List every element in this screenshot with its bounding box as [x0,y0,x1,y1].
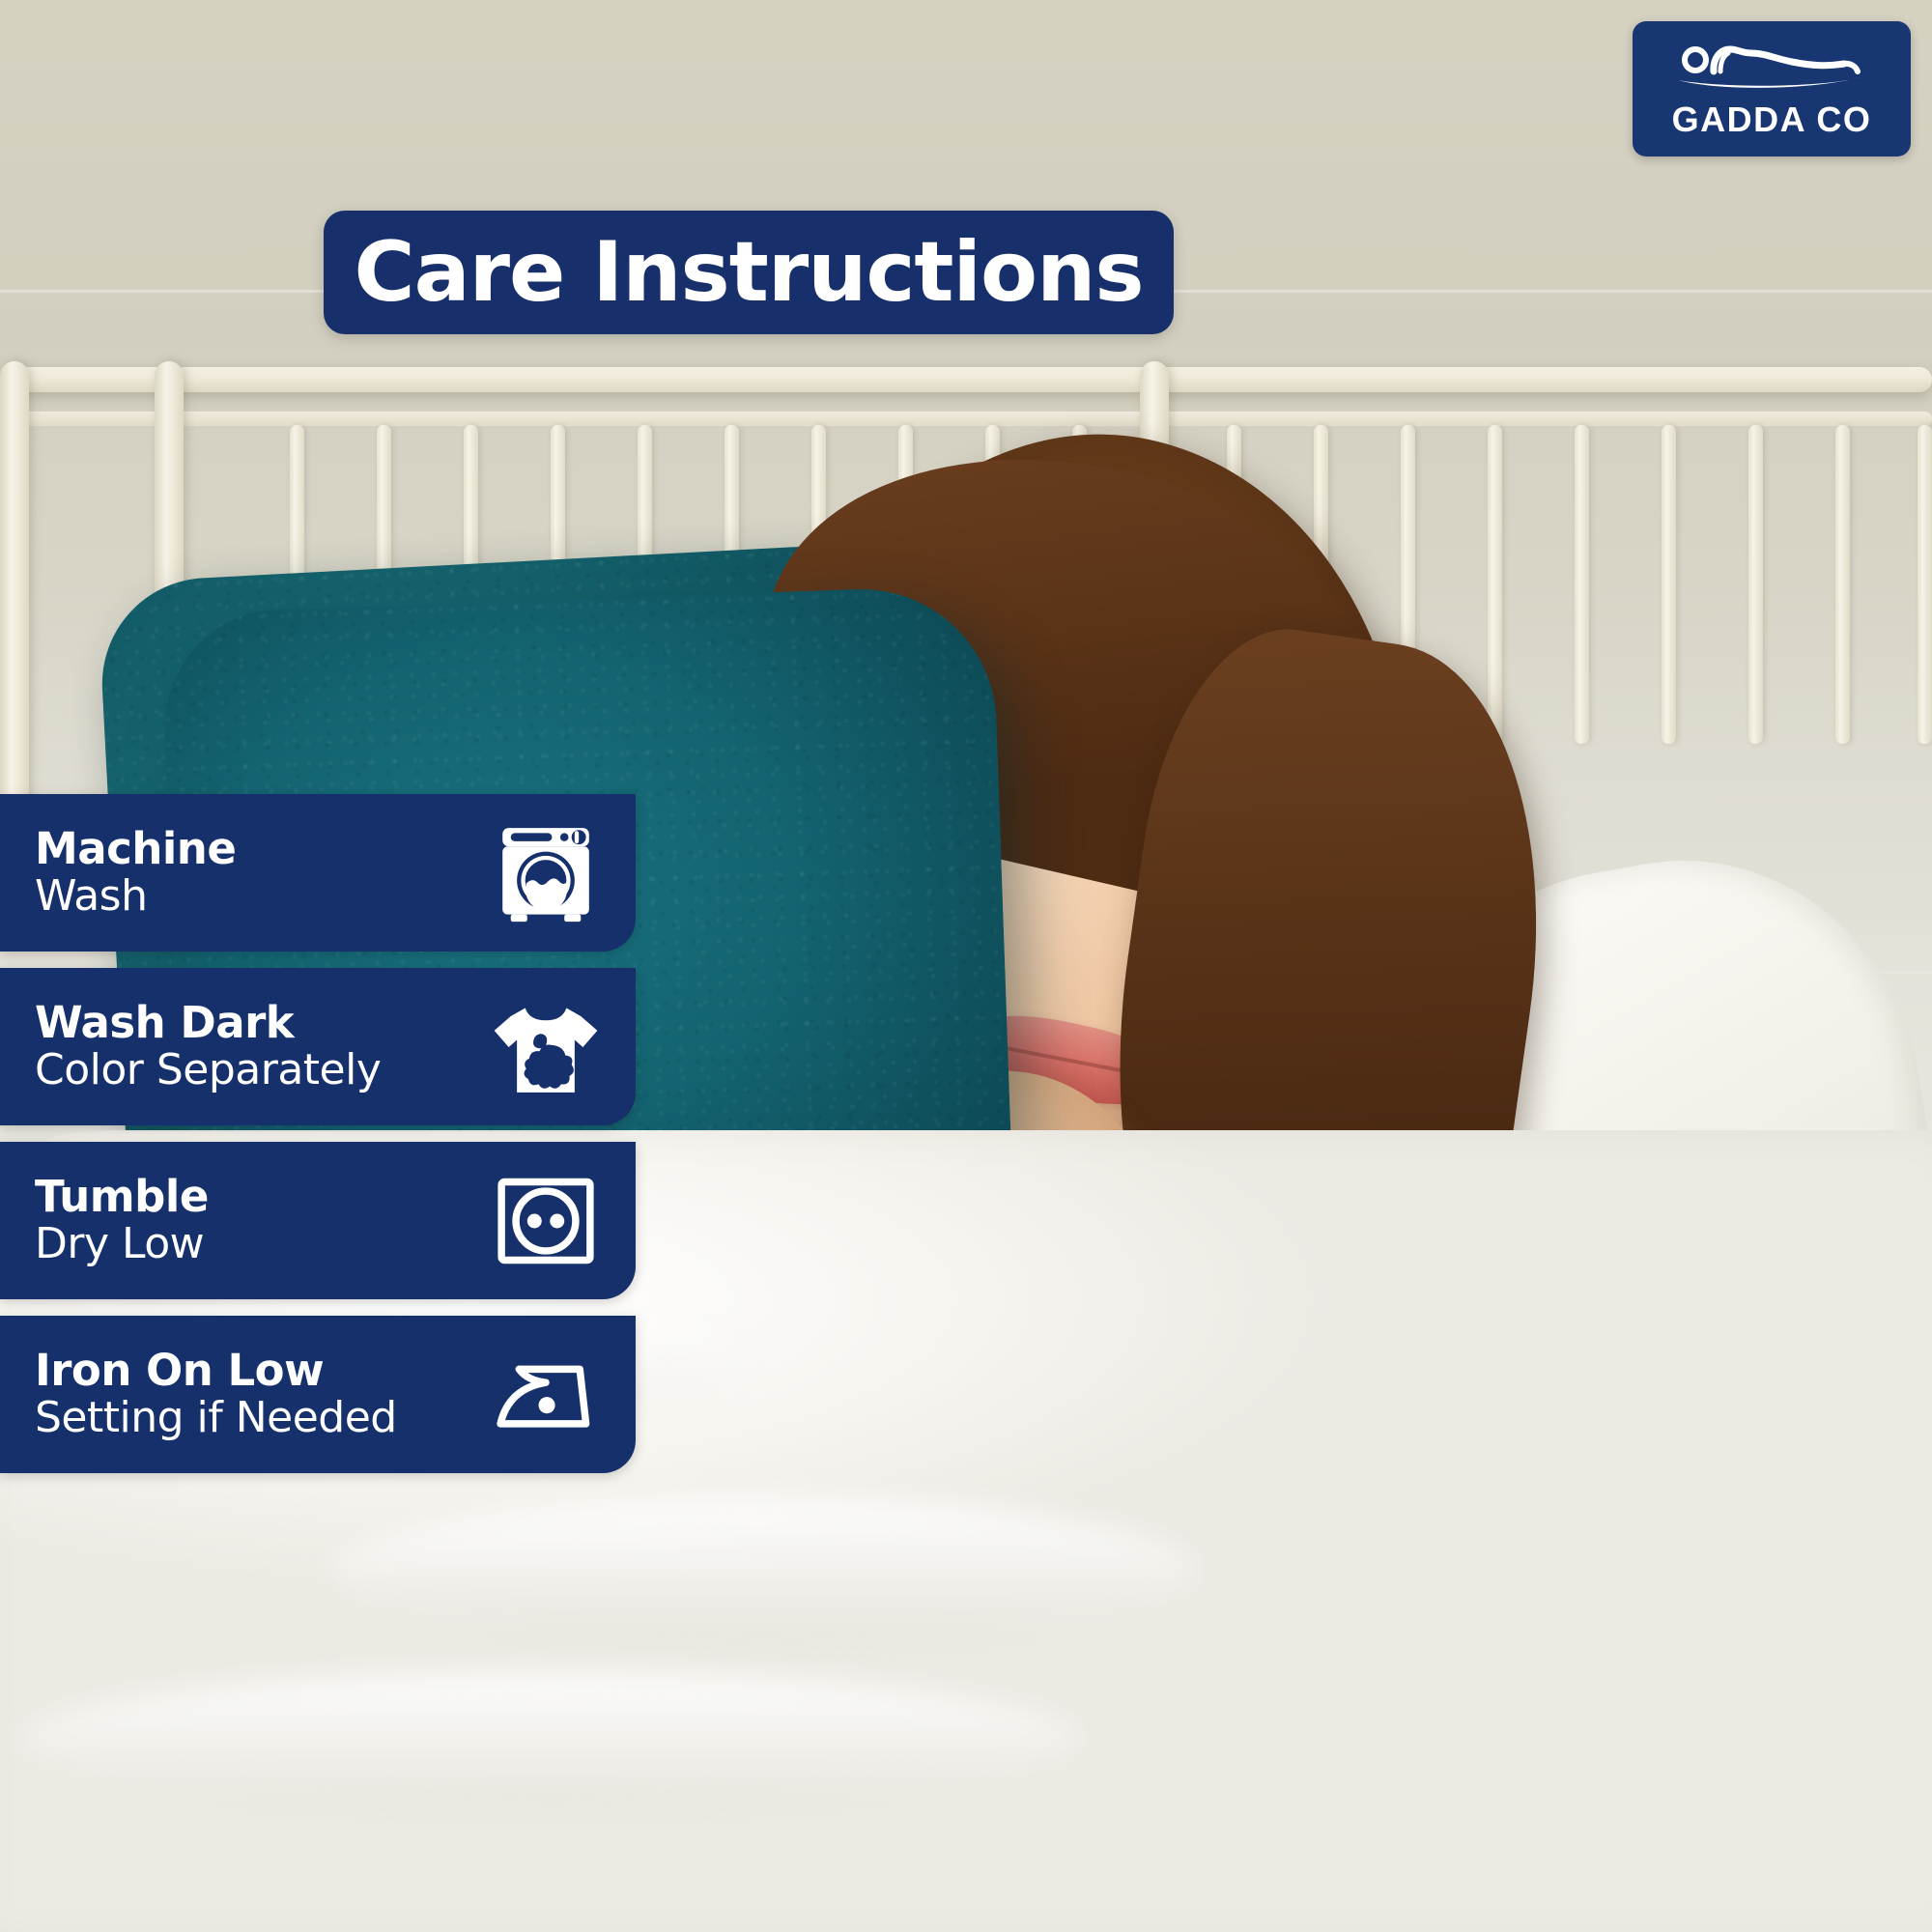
care-card-subtitle: Wash [35,872,473,920]
care-card-subtitle: Color Separately [35,1046,473,1094]
care-card-wash-dark-separately[interactable]: Wash Dark Color Separately [0,968,636,1125]
care-card-text: Machine Wash [0,826,473,920]
care-card-iron-on-low[interactable]: Iron On Low Setting if Needed [0,1316,636,1473]
headboard-post-left [0,361,29,815]
care-card-tumble-dry-low[interactable]: Tumble Dry Low [0,1142,636,1299]
care-card-text: Wash Dark Color Separately [0,1000,473,1094]
care-card-text: Iron On Low Setting if Needed [0,1348,473,1441]
brand-logo-badge[interactable]: GADDA CO [1633,21,1911,156]
iron-icon [473,1333,618,1457]
tumble-dry-icon [473,1159,618,1283]
care-card-subtitle: Dry Low [35,1220,473,1267]
sleeping-person-on-mattress-icon [1670,41,1873,100]
headboard-rail [0,367,1932,392]
care-card-title: Tumble [35,1174,473,1220]
stained-tshirt-icon [473,985,618,1109]
care-card-title: Wash Dark [35,1000,473,1046]
care-instruction-list: Machine Wash [0,794,657,1490]
care-card-text: Tumble Dry Low [0,1174,473,1267]
page-title: Care Instructions [354,231,1143,314]
care-card-title: Machine [35,826,473,872]
care-card-subtitle: Setting if Needed [35,1394,473,1441]
page-title-banner: Care Instructions [324,211,1174,334]
care-card-machine-wash[interactable]: Machine Wash [0,794,636,952]
brand-name: GADDA CO [1672,102,1872,137]
care-card-title: Iron On Low [35,1348,473,1394]
care-instructions-graphic: GADDA CO Care Instructions Machine Wash [0,0,1932,1932]
washing-machine-icon [473,811,618,935]
